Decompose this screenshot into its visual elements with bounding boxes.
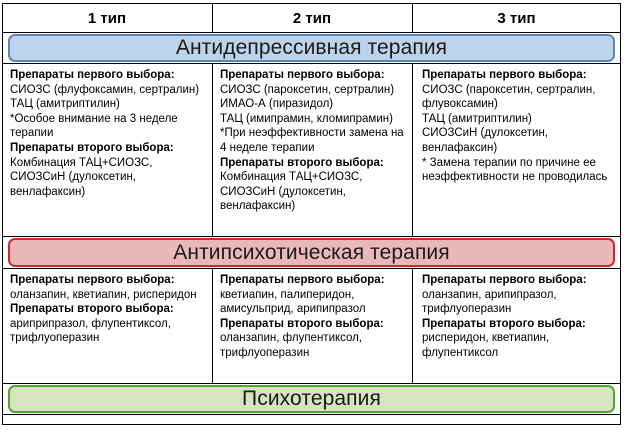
second-choice-text: оланзапин, флупентиксол, трифлуоперазин xyxy=(220,331,406,360)
first-choice-label: Препараты первого выбора: xyxy=(422,68,615,83)
second-choice-label: Препараты второго выбора: xyxy=(10,302,206,317)
first-choice-label: Препараты первого выбора: xyxy=(220,273,406,288)
antidepressant-cell-type-1: Препараты первого выбора: СИОЗС (флуфокс… xyxy=(2,64,212,236)
first-choice-text: кветиапин, палиперидон, амисульприд, ари… xyxy=(220,288,406,317)
psychotherapy-top-rule xyxy=(2,383,621,384)
column-divider-1-antipsychotic xyxy=(212,268,213,384)
first-choice-label: Препараты первого выбора: xyxy=(220,68,406,83)
second-choice-label: Препараты второго выбора: xyxy=(422,317,615,332)
column-divider-2-antidepressant xyxy=(412,63,413,237)
header-cell-type-3: 3 тип xyxy=(412,3,621,33)
column-divider-2-antipsychotic xyxy=(412,268,413,384)
column-divider-1-header xyxy=(212,3,213,33)
header-bottom-rule xyxy=(2,32,621,33)
table-header-row: 1 тип 2 тип 3 тип xyxy=(2,3,621,33)
header-cell-type-1: 1 тип xyxy=(2,3,212,33)
second-choice-text: Комбинация ТАЦ+СИОЗС, СИОЗСиН (дулоксети… xyxy=(10,156,206,200)
first-choice-label: Препараты первого выбора: xyxy=(10,68,206,83)
antipsychotic-cell-type-3: Препараты первого выбора: оланзапин, ари… xyxy=(412,269,621,382)
antipsychotic-row: Препараты первого выбора: оланзапин, кве… xyxy=(2,269,621,382)
psychotherapy-bottom-rule xyxy=(2,414,621,415)
column-divider-1-antidepressant xyxy=(212,63,213,237)
first-choice-text: СИОЗС (пароксетин, сертралин) ИМАО-А (пи… xyxy=(220,83,406,156)
header-cell-type-2: 2 тип xyxy=(212,3,412,33)
first-choice-text: СИОЗС (пароксетин, сертралин, флувоксами… xyxy=(422,83,615,185)
banner-psychotherapy: Психотерапия xyxy=(8,385,615,413)
second-choice-label: Препараты второго выбора: xyxy=(10,141,206,156)
antipsychotic-top-rule xyxy=(2,236,621,237)
second-choice-label: Препараты второго выбора: xyxy=(220,156,406,171)
first-choice-label: Препараты первого выбора: xyxy=(422,273,615,288)
column-divider-2-header xyxy=(412,3,413,33)
second-choice-text: рисперидон, кветиапин, флупентиксол xyxy=(422,331,615,360)
first-choice-text: оланзапин, арипипразол, трифлуоперазин xyxy=(422,288,615,317)
first-choice-label: Препараты первого выбора: xyxy=(10,273,206,288)
antidepressant-cell-type-2: Препараты первого выбора: СИОЗС (пароксе… xyxy=(212,64,412,236)
second-choice-text: ариприпразол, флупентиксол, трифлуопераз… xyxy=(10,317,206,346)
first-choice-text: оланзапин, кветиапин, рисперидон xyxy=(10,288,206,303)
antipsychotic-cell-type-2: Препараты первого выбора: кветиапин, пал… xyxy=(212,269,412,382)
first-choice-text: СИОЗС (флуфоксамин, сертралин) ТАЦ (амит… xyxy=(10,83,206,141)
antidepressant-cell-type-3: Препараты первого выбора: СИОЗС (пароксе… xyxy=(412,64,621,236)
banner-antipsychotic: Антипсихотическая терапия xyxy=(8,238,615,267)
banner-antidepressant: Антидепрессивная терапия xyxy=(8,34,615,62)
second-choice-text: Комбинация ТАЦ+СИОЗС, СИОЗСиН (дулоксети… xyxy=(220,170,406,214)
therapy-table: 1 тип 2 тип 3 тип Антидепрессивная терап… xyxy=(0,0,624,430)
second-choice-label: Препараты второго выбора: xyxy=(220,317,406,332)
antidepressant-row: Препараты первого выбора: СИОЗС (флуфокс… xyxy=(2,64,621,236)
antipsychotic-cell-type-1: Препараты первого выбора: оланзапин, кве… xyxy=(2,269,212,382)
